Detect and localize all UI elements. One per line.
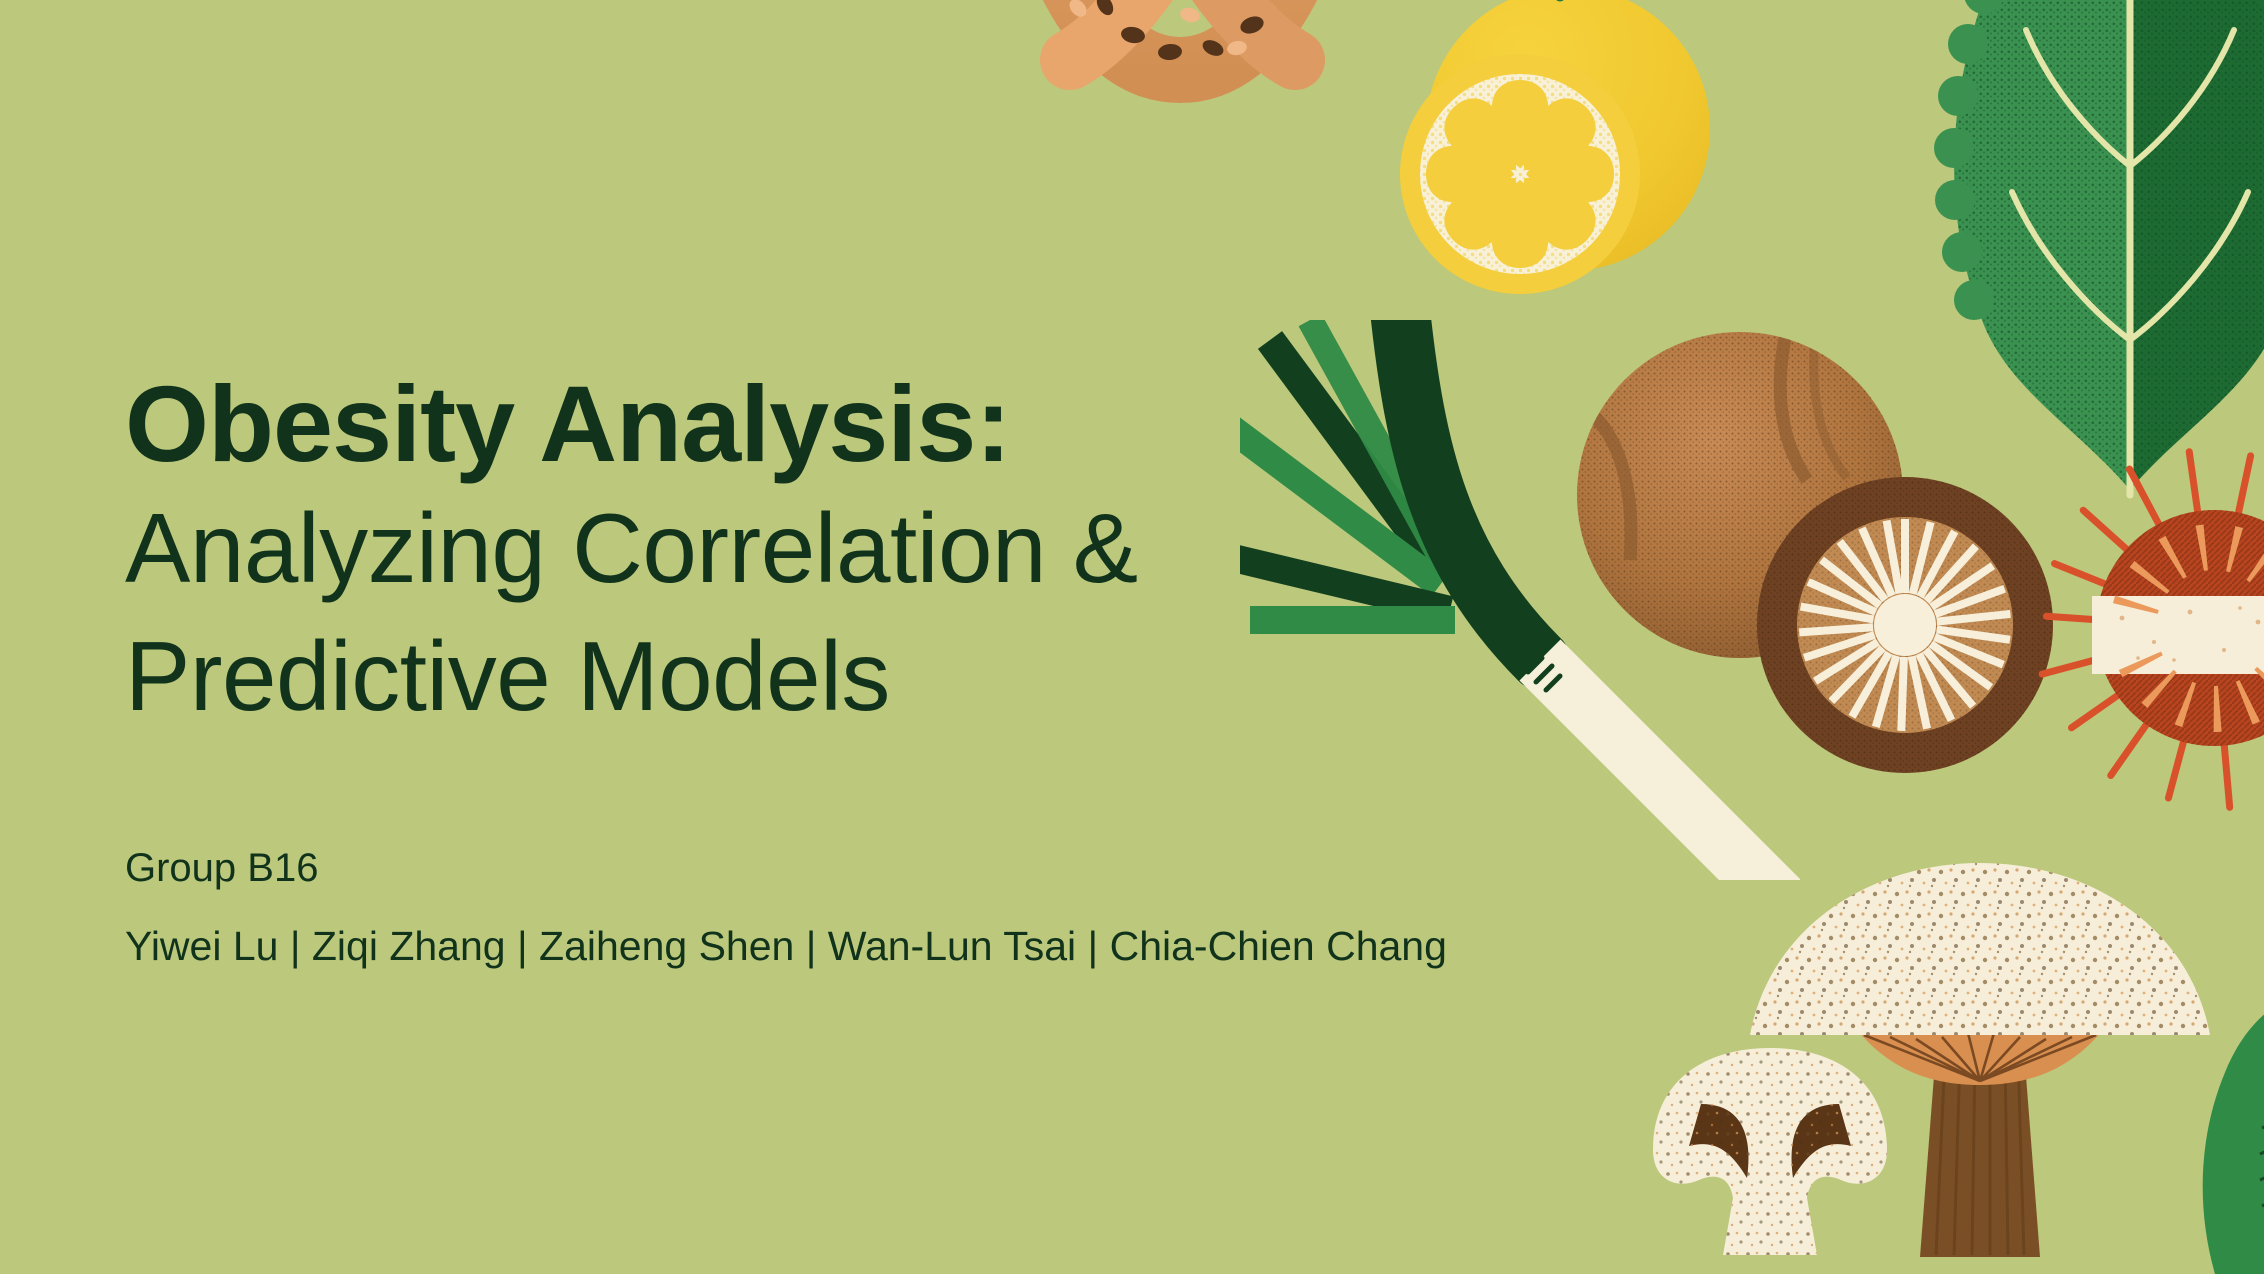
green-vegetable-icon (2130, 990, 2264, 1274)
pretzel-icon (965, 0, 1395, 180)
button-mushroom-icon (1645, 1030, 1895, 1274)
large-mushroom-icon (1740, 845, 2220, 1274)
presentation-slide: Obesity Analysis: Analyzing Correlation … (0, 0, 2264, 1274)
orange-fruit-icon (1408, 0, 1728, 274)
shiitake-gills-icon (1755, 475, 2055, 775)
page-subtitle-line-1: Analyzing Correlation & (125, 485, 1305, 612)
shiitake-cap-icon (1575, 330, 1905, 660)
page-subtitle-line-2: Predictive Models (125, 613, 1305, 740)
chestnut-burr-icon (2034, 410, 2264, 840)
page-title: Obesity Analysis: (125, 368, 1305, 479)
authors-list: Yiwei Lu | Ziqi Zhang | Zaiheng Shen | W… (125, 922, 1305, 971)
group-label: Group B16 (125, 844, 1305, 892)
page-subtitle: Analyzing Correlation & Predictive Model… (125, 485, 1305, 740)
lemon-slice-icon (1398, 52, 1643, 297)
serrated-leaf-icon (1930, 0, 2264, 500)
title-text-block: Obesity Analysis: Analyzing Correlation … (125, 368, 1305, 971)
leek-icon (1240, 320, 1800, 880)
